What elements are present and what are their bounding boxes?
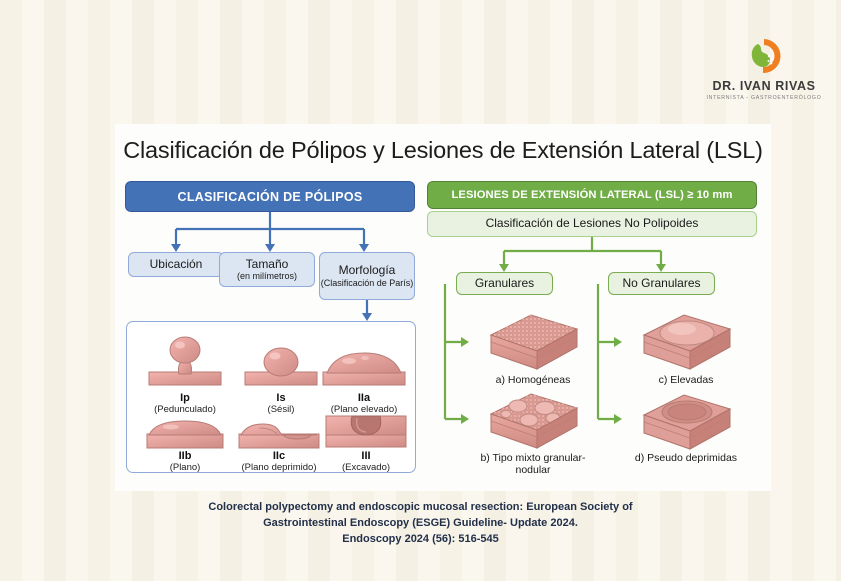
- node-no-granulares[interactable]: No Granulares: [608, 272, 715, 295]
- node-morfologia-label: Morfología: [339, 264, 396, 277]
- citation-line-1: Colorectal polypectomy and endoscopic mu…: [0, 500, 841, 516]
- elevated-lesion-icon: [626, 309, 736, 371]
- lesion-caption-b: b) Tipo mixto granular-nodular: [468, 452, 598, 477]
- node-no-granulares-label: No Granulares: [622, 277, 700, 290]
- sessile-polyp-icon: [237, 330, 325, 388]
- node-granulares[interactable]: Granulares: [456, 272, 553, 295]
- logo-subtitle: INTERNISTA - GASTROENTERÓLOGO: [700, 95, 828, 101]
- homogeneous-lesion-icon: [473, 309, 583, 371]
- polyp-code-iic: IIc: [233, 450, 325, 463]
- polyp-name-iic: (Plano deprimido): [233, 463, 325, 474]
- stomach-logo-icon: [744, 36, 784, 76]
- pedunculated-polyp-icon: [141, 330, 229, 388]
- polyp-code-iii: III: [320, 450, 412, 463]
- polyp-name-iii: (Excavado): [320, 463, 412, 474]
- polyp-code-is: Is: [233, 392, 329, 405]
- excavated-polyp-icon: [320, 406, 412, 452]
- polyp-morphology-panel: Ip (Pedunculado) Is (Sésil) IIa (Plano e…: [126, 321, 416, 473]
- node-granulares-label: Granulares: [475, 277, 534, 290]
- mixed-nodular-lesion-icon: [473, 386, 583, 450]
- pseudo-depressed-lesion-icon: [626, 389, 736, 451]
- lesion-caption-a: a) Homogéneas: [468, 374, 598, 386]
- lesion-caption-c: c) Elevadas: [621, 374, 751, 386]
- node-ubicacion[interactable]: Ubicación: [128, 252, 224, 277]
- flat-elevated-polyp-icon: [317, 330, 411, 388]
- node-morfologia-sublabel: (Clasificación de París): [321, 278, 414, 288]
- polyp-caption-iic: IIc (Plano deprimido): [233, 450, 325, 474]
- right-panel-header: LESIONES DE EXTENSIÓN LATERAL (LSL) ≥ 10…: [427, 181, 757, 209]
- node-tamano[interactable]: Tamaño (en milímetros): [219, 252, 315, 287]
- polyp-caption-iib: IIb (Plano): [137, 450, 233, 474]
- polyp-caption-iii: III (Excavado): [320, 450, 412, 474]
- node-tamano-sublabel: (en milímetros): [237, 271, 297, 281]
- infographic-card: Clasificación de Pólipos y Lesiones de E…: [115, 124, 771, 491]
- page-title: Clasificación de Pólipos y Lesiones de E…: [115, 124, 771, 164]
- polyp-code-iib: IIb: [137, 450, 233, 463]
- logo-name: DR. IVAN RIVAS: [700, 79, 828, 93]
- citation-line-3: Endoscopy 2024 (56): 516-545: [0, 532, 841, 548]
- citation: Colorectal polypectomy and endoscopic mu…: [0, 500, 841, 548]
- node-ubicacion-label: Ubicación: [150, 258, 203, 271]
- right-panel-subheader: Clasificación de Lesiones No Polipoides: [427, 211, 757, 237]
- citation-line-2: Gastrointestinal Endoscopy (ESGE) Guidel…: [0, 516, 841, 532]
- node-tamano-label: Tamaño: [246, 258, 289, 271]
- brand-logo: DR. IVAN RIVAS INTERNISTA - GASTROENTERÓ…: [700, 36, 828, 101]
- polyp-code-ip: Ip: [137, 392, 233, 405]
- lesion-caption-d: d) Pseudo deprimidas: [621, 452, 751, 464]
- polyp-name-iib: (Plano): [137, 463, 233, 474]
- flat-polyp-icon: [141, 412, 229, 452]
- node-morfologia[interactable]: Morfología (Clasificación de París): [319, 252, 415, 300]
- flat-depressed-polyp-icon: [233, 412, 325, 452]
- polyp-code-iia: IIa: [317, 392, 411, 405]
- left-panel-header: CLASIFICACIÓN DE PÓLIPOS: [125, 181, 415, 212]
